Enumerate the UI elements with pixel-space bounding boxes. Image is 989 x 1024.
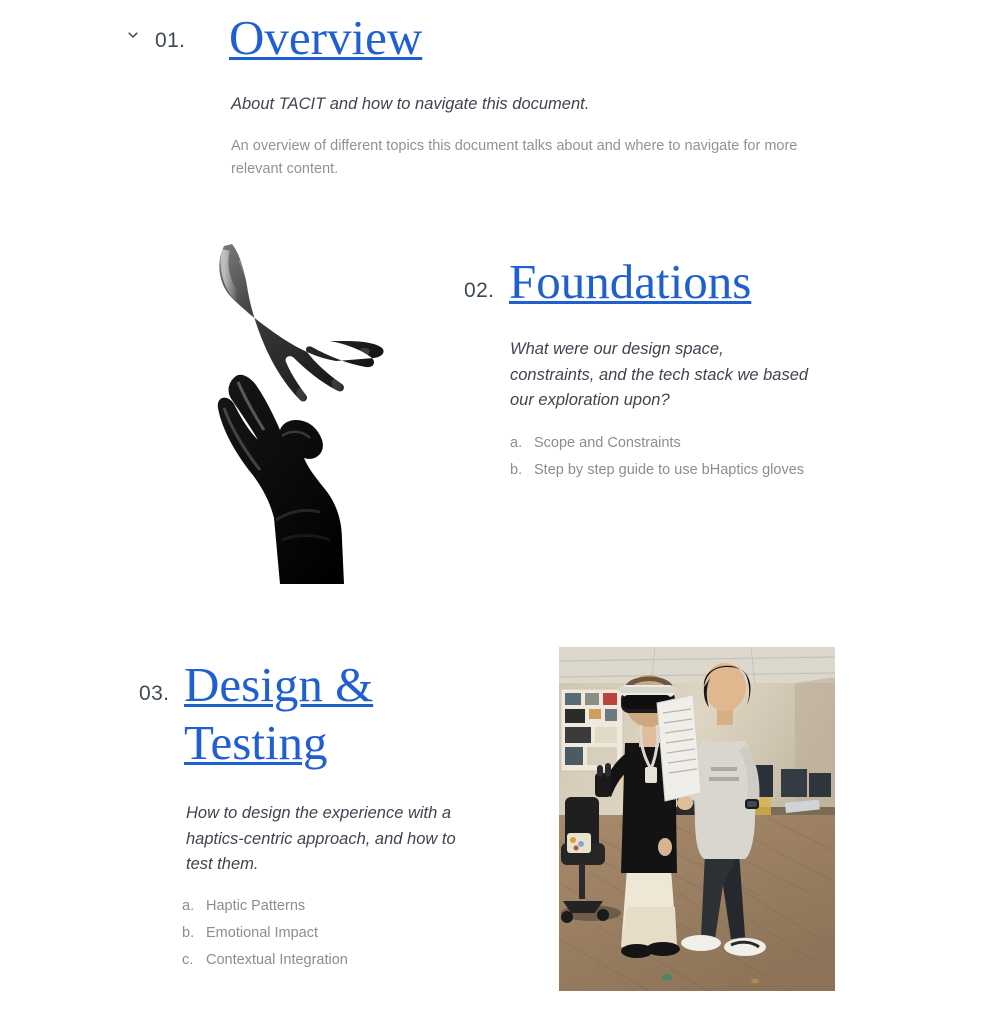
section-number-03: 03. xyxy=(139,683,169,704)
list-marker: b. xyxy=(182,920,206,947)
list-item[interactable]: b. Step by step guide to use bHaptics gl… xyxy=(510,457,850,484)
list-label: Step by step guide to use bHaptics glove… xyxy=(534,457,804,484)
list-label: Emotional Impact xyxy=(206,920,318,947)
list-label: Haptic Patterns xyxy=(206,893,305,920)
section-subtitle-01: About TACIT and how to navigate this doc… xyxy=(231,92,851,118)
section-title-link-design-and-testing[interactable]: Design & Testing xyxy=(184,657,373,770)
section-number-01: 01. xyxy=(155,30,185,51)
chevron-down-icon[interactable] xyxy=(126,28,140,42)
list-label: Contextual Integration xyxy=(206,947,348,974)
section-title-link-foundations[interactable]: Foundations xyxy=(509,254,751,309)
section-title-wrap-01: Overview xyxy=(229,9,422,67)
reaching-hands-photo xyxy=(196,240,410,588)
list-marker: a. xyxy=(510,430,534,457)
list-item[interactable]: c. Contextual Integration xyxy=(182,947,482,974)
section-number-02: 02. xyxy=(464,280,494,301)
section-list-02: a. Scope and Constraints b. Step by step… xyxy=(510,430,850,484)
section-title-wrap-03: Design & Testing xyxy=(184,656,399,772)
section-list-03: a. Haptic Patterns b. Emotional Impact c… xyxy=(182,893,482,973)
section-subtitle-03: How to design the experience with a hapt… xyxy=(186,801,456,878)
section-title-wrap-02: Foundations xyxy=(509,253,751,311)
section-title-link-overview[interactable]: Overview xyxy=(229,10,422,65)
user-testing-photo xyxy=(559,647,835,991)
list-marker: a. xyxy=(182,893,206,920)
list-marker: c. xyxy=(182,947,206,974)
section-body-01: An overview of different topics this doc… xyxy=(231,135,831,182)
list-item[interactable]: b. Emotional Impact xyxy=(182,920,482,947)
list-item[interactable]: a. Haptic Patterns xyxy=(182,893,482,920)
section-subtitle-02: What were our design space, constraints,… xyxy=(510,337,810,414)
list-marker: b. xyxy=(510,457,534,484)
list-item[interactable]: a. Scope and Constraints xyxy=(510,430,850,457)
list-label: Scope and Constraints xyxy=(534,430,681,457)
